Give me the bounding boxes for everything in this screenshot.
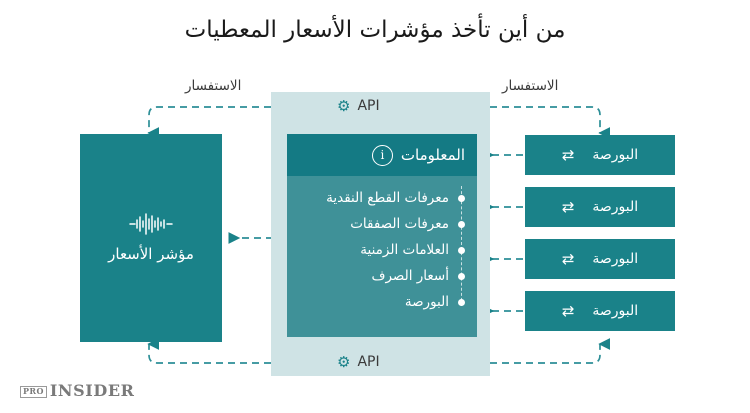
bullet-dot-icon xyxy=(458,299,465,306)
list-item-label: البورصة xyxy=(405,294,449,310)
query-label-left: الاستفسار xyxy=(181,78,245,94)
infographic-canvas: من أين تأخذ مؤشرات الأسعار المعطيات xyxy=(0,0,750,413)
page-title: من أين تأخذ مؤشرات الأسعار المعطيات xyxy=(0,16,750,46)
insider-pro-logo: INSIDER PRO xyxy=(20,381,135,400)
exchange-box: البورصة ⇄ xyxy=(525,135,675,175)
logo-badge-text: PRO xyxy=(20,386,47,398)
exchange-label: البورصة xyxy=(592,251,638,267)
api-label-bottom-text: API xyxy=(357,354,379,370)
information-card-header: المعلومات i xyxy=(287,134,477,176)
exchange-box: البورصة ⇄ xyxy=(525,187,675,227)
information-card-list: معرفات القطع النقدية معرفات الصفقات العل… xyxy=(287,176,477,315)
exchange-label: البورصة xyxy=(592,147,638,163)
information-card: المعلومات i معرفات القطع النقدية معرفات … xyxy=(287,134,477,337)
information-card-title: المعلومات xyxy=(401,146,465,164)
bullet-dot-icon xyxy=(458,247,465,254)
list-item: معرفات الصفقات xyxy=(287,211,465,237)
info-circle-icon: i xyxy=(372,145,393,166)
list-item: معرفات القطع النقدية xyxy=(287,185,465,211)
exchange-label: البورصة xyxy=(592,199,638,215)
exchange-arrows-icon: ⇄ xyxy=(562,252,575,267)
gear-icon: ⚙ xyxy=(337,99,350,114)
api-label-top-text: API xyxy=(357,98,379,114)
list-spine xyxy=(461,186,462,306)
exchange-box: البورصة ⇄ xyxy=(525,291,675,331)
info-circle-icon-glyph: i xyxy=(380,149,384,161)
list-item-label: أسعار الصرف xyxy=(371,268,449,284)
exchange-box: البورصة ⇄ xyxy=(525,239,675,279)
list-item: البورصة xyxy=(287,289,465,315)
bullet-dot-icon xyxy=(458,195,465,202)
api-label-top: ⚙ API xyxy=(330,98,387,114)
exchange-arrows-icon: ⇄ xyxy=(562,148,575,163)
gear-icon: ⚙ xyxy=(337,355,350,370)
api-label-bottom: ⚙ API xyxy=(330,354,387,370)
price-index-label: مؤشر الأسعار xyxy=(108,245,194,263)
exchange-label: البورصة xyxy=(592,303,638,319)
list-item: العلامات الزمنية xyxy=(287,237,465,263)
price-index-box: مؤشر الأسعار xyxy=(80,134,222,342)
bullet-dot-icon xyxy=(458,221,465,228)
list-item-label: معرفات الصفقات xyxy=(350,216,449,232)
bullet-dot-icon xyxy=(458,273,465,280)
list-item-label: معرفات القطع النقدية xyxy=(326,190,449,206)
pulse-waveform-icon xyxy=(128,213,174,235)
list-item-label: العلامات الزمنية xyxy=(360,242,449,258)
exchange-arrows-icon: ⇄ xyxy=(562,200,575,215)
exchange-arrows-icon: ⇄ xyxy=(562,304,575,319)
query-label-right: الاستفسار xyxy=(498,78,562,94)
logo-primary-text: INSIDER xyxy=(50,381,135,400)
list-item: أسعار الصرف xyxy=(287,263,465,289)
